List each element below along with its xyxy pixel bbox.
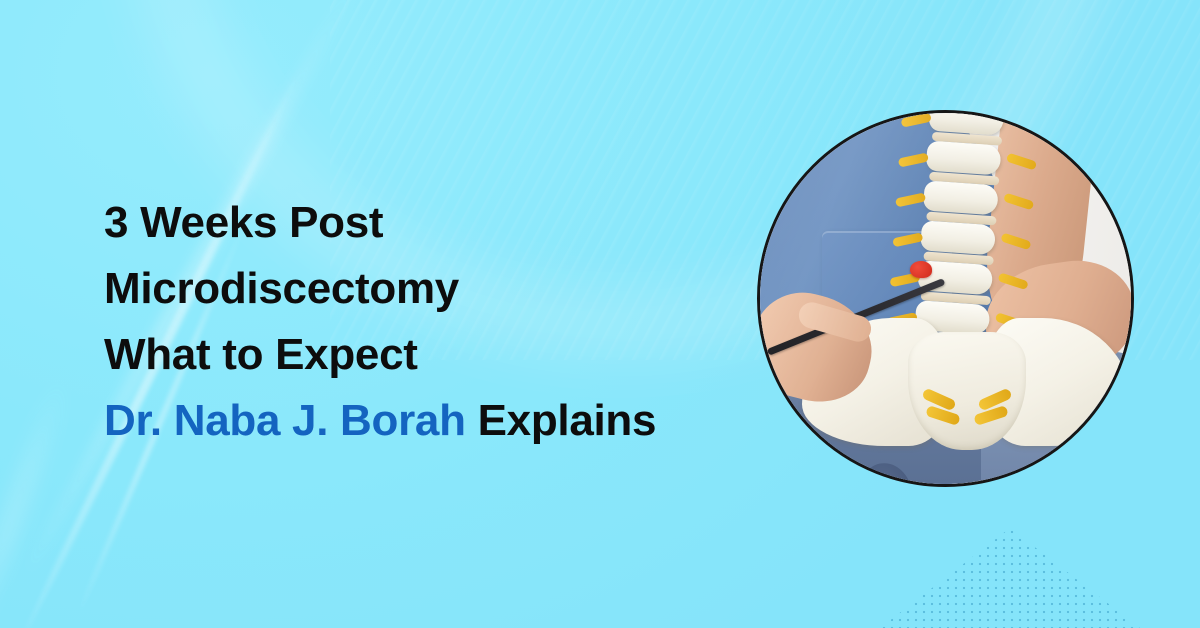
photo-sacral-nerve — [973, 405, 1009, 426]
photo-herniated-disc-marker — [910, 261, 932, 278]
photo-vertebra — [923, 180, 999, 215]
headline-explains-text: Explains — [466, 396, 657, 445]
headline-line-3: What to Expect — [104, 322, 754, 388]
photo-obturator-foramen-right — [1016, 458, 1080, 484]
photo-obturator-foramen-left — [854, 458, 918, 484]
photo-sacral-nerve — [925, 405, 961, 426]
photo-vertebra — [926, 140, 1002, 175]
photo-content — [760, 113, 1131, 484]
doctor-name: Dr. Naba J. Borah — [104, 396, 466, 445]
promo-banner: 3 Weeks Post Microdiscectomy What to Exp… — [0, 0, 1200, 628]
page-title: 3 Weeks Post Microdiscectomy What to Exp… — [104, 190, 754, 454]
headline-line-1: 3 Weeks Post — [104, 190, 754, 256]
headline-line-2: Microdiscectomy — [104, 256, 754, 322]
spine-model-photo — [757, 110, 1134, 487]
photo-vertebra — [920, 220, 996, 255]
headline-line-4: Dr. Naba J. Borah Explains — [104, 388, 754, 454]
